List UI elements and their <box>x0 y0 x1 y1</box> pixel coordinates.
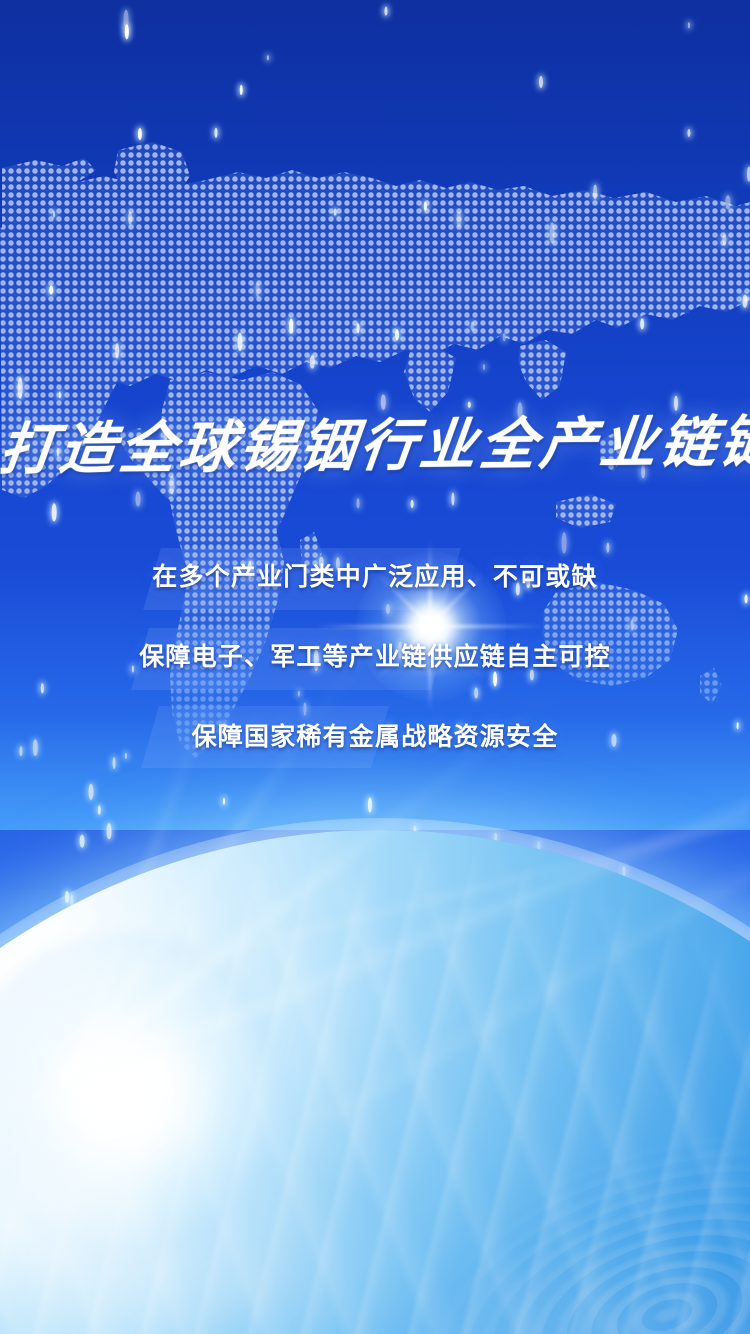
subtitle-line-1: 在多个产业门类中广泛应用、不可或缺 <box>0 565 750 590</box>
subtitle-line-3: 保障国家稀有金属战略资源安全 <box>0 725 750 750</box>
poster-title: 打造全球锡铟行业全产业链链主 <box>0 414 750 478</box>
sky-light-streaks <box>0 790 750 1120</box>
poster-canvas: 打造全球锡铟行业全产业链链主 在多个产业门类中广泛应用、不可或缺 保障电子、军工… <box>0 0 750 1334</box>
headline-block: 打造全球锡铟行业全产业链链主 <box>0 418 750 474</box>
subtitle-line-2: 保障电子、军工等产业链供应链自主可控 <box>0 645 750 670</box>
